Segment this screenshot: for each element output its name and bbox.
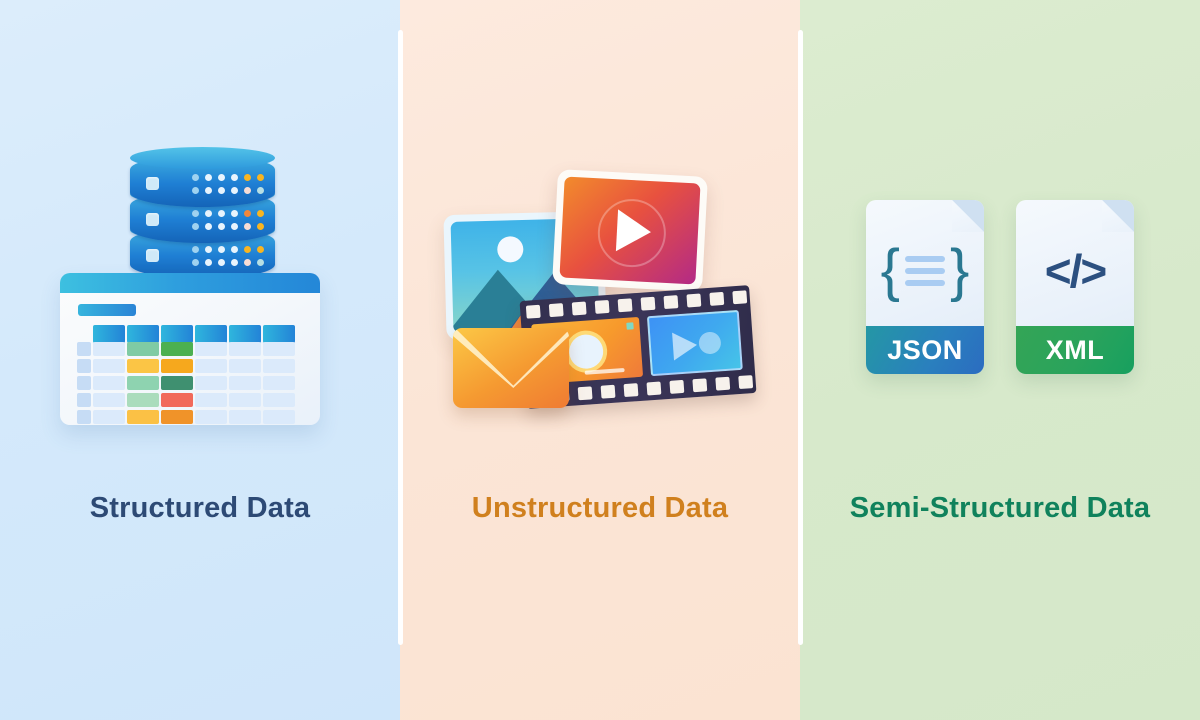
angle-brackets-icon: </>	[1016, 234, 1134, 308]
caption-unstructured-data: Unstructured Data	[400, 492, 800, 525]
xml-file-icon: </> XML	[1016, 200, 1134, 374]
data-types-infographic: Structured Data	[0, 0, 1200, 720]
spreadsheet-toolbar-chip	[78, 304, 136, 316]
json-file-label: JSON	[866, 326, 984, 374]
json-file-icon: { } JSON	[866, 200, 984, 374]
panel-unstructured-data: Unstructured Data	[400, 0, 800, 720]
spreadsheet-title-bar	[60, 273, 320, 293]
spreadsheet-icon	[60, 273, 320, 425]
panel-semi-structured-data: { } JSON </> XML	[800, 0, 1200, 720]
caption-structured-data: Structured Data	[0, 492, 400, 525]
email-icon	[453, 328, 569, 408]
database-icon	[130, 155, 275, 290]
semi-structured-illustration: { } JSON </> XML	[800, 150, 1200, 450]
unstructured-illustration	[400, 150, 800, 450]
structured-illustration	[0, 150, 400, 450]
curly-braces-icon: { }	[866, 234, 984, 308]
play-icon	[616, 209, 652, 253]
xml-file-label: XML	[1016, 326, 1134, 374]
panel-structured-data: Structured Data	[0, 0, 400, 720]
video-icon	[552, 169, 708, 292]
panel-divider-2	[798, 30, 803, 645]
panel-divider-1	[398, 30, 403, 645]
caption-semi-structured-data: Semi-Structured Data	[800, 492, 1200, 525]
spreadsheet-grid	[77, 325, 295, 424]
